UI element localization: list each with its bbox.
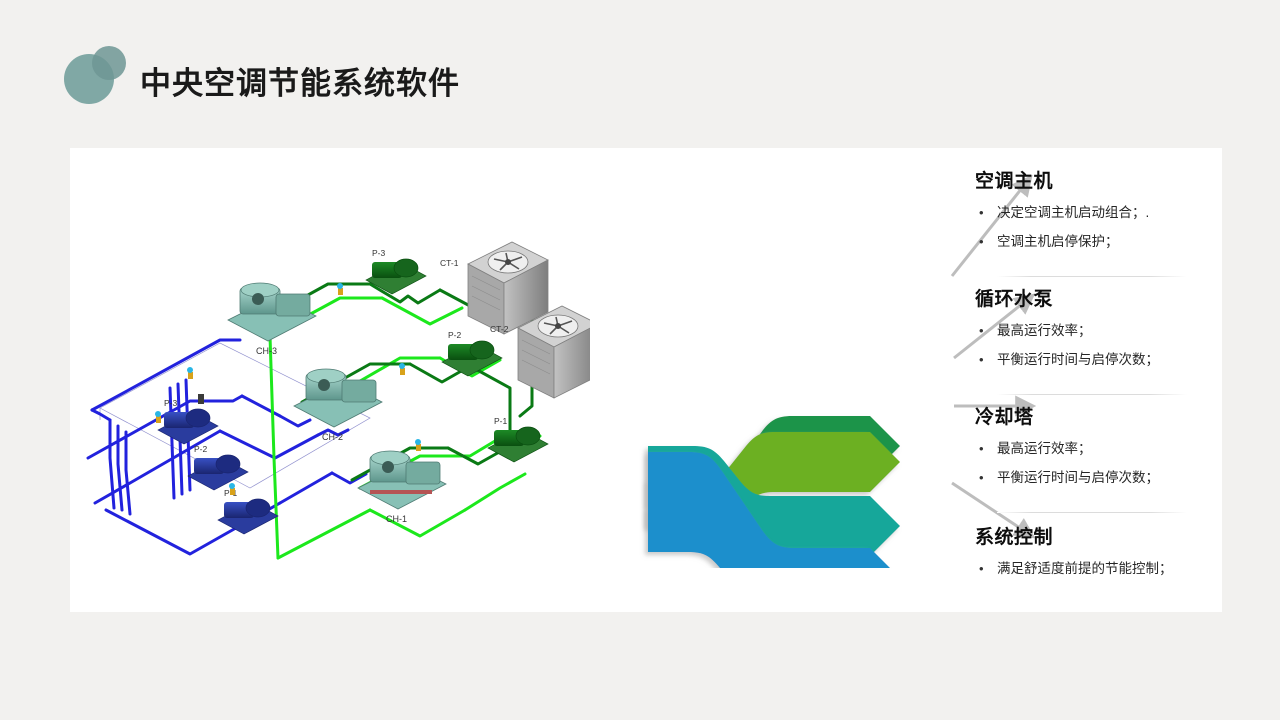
condenser-pump-p-2: P-2 xyxy=(442,330,502,376)
bullet-icon: • xyxy=(979,463,984,492)
cooling-tower-ct-1: CT-1 xyxy=(440,242,548,334)
section-1-bullets: • 决定空调主机启动组合；. • 空调主机启停保护； xyxy=(975,198,1220,256)
list-item: • 决定空调主机启动组合；. xyxy=(975,198,1220,227)
list-item: • 平衡运行时间与启停次数； xyxy=(975,463,1220,492)
section-4-heading: 系统控制 xyxy=(975,526,1220,550)
bullet-icon: • xyxy=(979,198,984,227)
chiller-ch-1: CH-1 xyxy=(358,451,446,524)
section-2-bullets: • 最高运行效率； • 平衡运行时间与启停次数； xyxy=(975,316,1220,374)
bullet-text: 最高运行效率； xyxy=(997,323,1092,338)
bullet-text: 满足舒适度前提的节能控制； xyxy=(997,561,1173,576)
svg-text:CT-2: CT-2 xyxy=(490,324,509,334)
logo-circle-small-icon xyxy=(92,46,126,80)
chiller-ch-3: CH-3 xyxy=(228,283,316,356)
svg-text:CT-1: CT-1 xyxy=(440,258,459,268)
slide-header: 中央空调节能系统软件 xyxy=(0,0,1280,140)
list-item: • 空调主机启停保护； xyxy=(975,227,1220,256)
section-3-bullets: • 最高运行效率； • 平衡运行时间与启停次数； xyxy=(975,434,1220,492)
chilled-pump-p-1: P-1 xyxy=(218,488,278,534)
bullet-text: 决定空调主机启动组合；. xyxy=(997,205,1149,220)
page-title: 中央空调节能系统软件 xyxy=(140,58,460,103)
chiller-ch-2: CH-2 xyxy=(294,369,382,442)
bullet-icon: • xyxy=(979,345,984,374)
section-1-heading: 空调主机 xyxy=(975,170,1220,194)
bullet-icon: • xyxy=(979,434,984,463)
section-divider xyxy=(997,276,1187,277)
sections-column: 空调主机 • 决定空调主机启动组合；. • 空调主机启停保护； 循环水泵 • 最… xyxy=(975,158,1220,608)
section-cooling-tower: 冷却塔 • 最高运行效率； • 平衡运行时间与启停次数； xyxy=(975,406,1220,492)
svg-text:P-1: P-1 xyxy=(494,416,508,426)
svg-text:CH-2: CH-2 xyxy=(322,432,343,442)
svg-text:P-2: P-2 xyxy=(448,330,462,340)
bullet-icon: • xyxy=(979,227,984,256)
svg-text:P-2: P-2 xyxy=(194,444,208,454)
bullet-text: 最高运行效率； xyxy=(997,441,1092,456)
list-item: • 满足舒适度前提的节能控制； xyxy=(975,554,1220,583)
chilled-pump-p-2: P-2 xyxy=(188,444,248,490)
svg-text:CH-1: CH-1 xyxy=(386,514,407,524)
bullet-icon: • xyxy=(979,554,984,583)
section-system-control: 系统控制 • 满足舒适度前提的节能控制； xyxy=(975,526,1220,583)
bullet-text: 平衡运行时间与启停次数； xyxy=(997,352,1159,367)
svg-text:P-3: P-3 xyxy=(164,398,178,408)
hvac-schematic-diagram: CH-3 CH-2 CH-1 P-3 xyxy=(70,158,590,598)
list-item: • 最高运行效率； xyxy=(975,434,1220,463)
section-divider xyxy=(997,512,1187,513)
condenser-pump-p-1: P-1 xyxy=(488,416,548,462)
section-3-heading: 冷却塔 xyxy=(975,406,1220,430)
list-item: • 平衡运行时间与启停次数； xyxy=(975,345,1220,374)
section-2-heading: 循环水泵 xyxy=(975,288,1220,312)
logo xyxy=(64,46,126,104)
bullet-icon: • xyxy=(979,316,984,345)
svg-text:CH-3: CH-3 xyxy=(256,346,277,356)
content-card: CH-3 CH-2 CH-1 P-3 xyxy=(70,148,1222,612)
section-air-conditioning-host: 空调主机 • 决定空调主机启动组合；. • 空调主机启停保护； xyxy=(975,170,1220,256)
fanout-bands-diagram xyxy=(570,238,910,568)
section-circulating-pump: 循环水泵 • 最高运行效率； • 平衡运行时间与启停次数； xyxy=(975,288,1220,374)
section-4-bullets: • 满足舒适度前提的节能控制； xyxy=(975,554,1220,583)
list-item: • 最高运行效率； xyxy=(975,316,1220,345)
bullet-text: 空调主机启停保护； xyxy=(997,234,1119,249)
section-divider xyxy=(997,394,1187,395)
svg-text:P-3: P-3 xyxy=(372,248,386,258)
bullet-text: 平衡运行时间与启停次数； xyxy=(997,470,1159,485)
